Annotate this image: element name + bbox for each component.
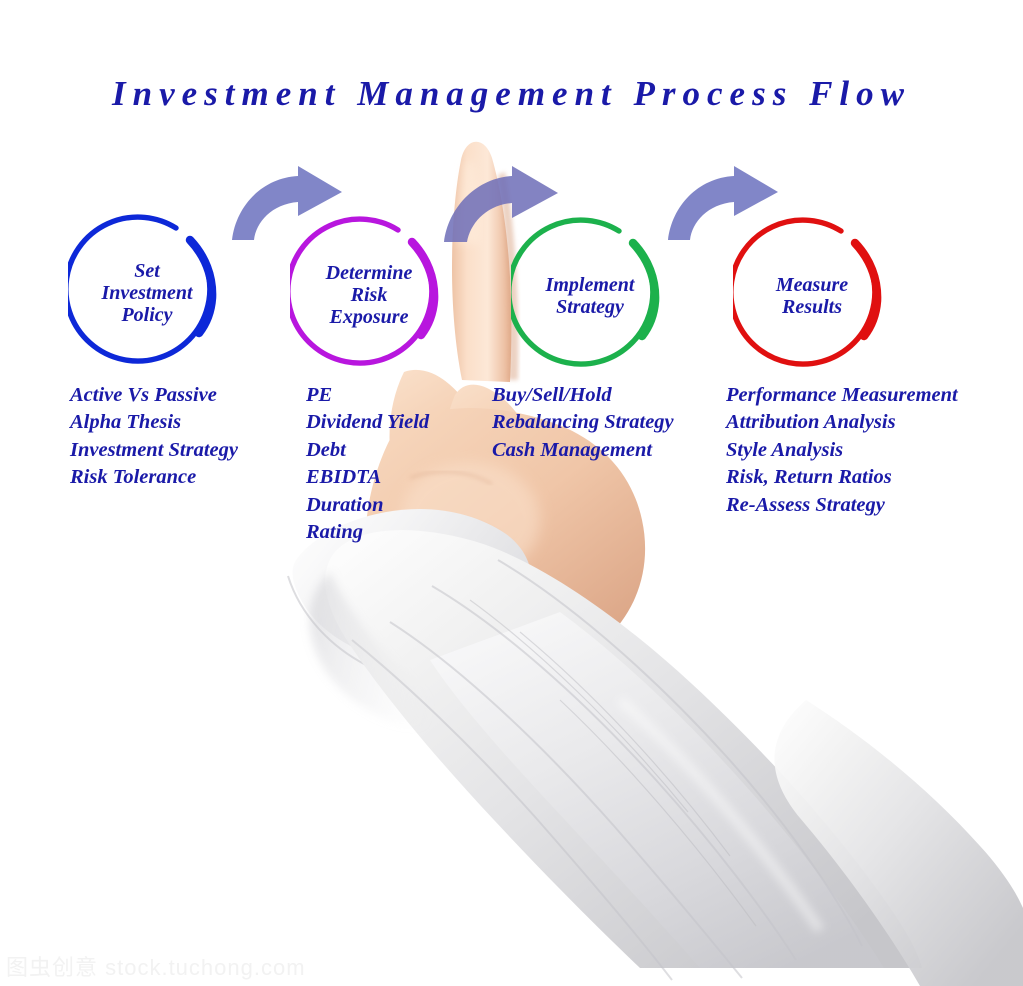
bullet-item: Investment Strategy (70, 437, 238, 464)
bullet-item: Alpha Thesis (70, 409, 238, 436)
bullet-item: Risk Tolerance (70, 464, 238, 491)
stage-node-set-investment-policy[interactable]: Set Investment Policy (68, 214, 226, 372)
bullet-item: Rebalancing Strategy (492, 409, 674, 436)
bullet-item: Buy/Sell/Hold (492, 382, 674, 409)
stage-bullets-determine-risk-exposure: PE Dividend Yield Debt EBIDTA Duration R… (306, 382, 429, 546)
bullet-item: Cash Management (492, 437, 674, 464)
bullet-item: Active Vs Passive (70, 382, 238, 409)
stage-bullets-set-investment-policy: Active Vs Passive Alpha Thesis Investmen… (70, 382, 238, 492)
bullet-item: Rating (306, 519, 429, 546)
stage-node-label: Measure Results (733, 274, 891, 318)
bullet-item: Duration (306, 492, 429, 519)
bullet-item: Dividend Yield (306, 409, 429, 436)
bullet-item: Debt (306, 437, 429, 464)
stage-node-determine-risk-exposure[interactable]: Determine Risk Exposure (290, 216, 448, 374)
bullet-item: Re-Assess Strategy (726, 492, 958, 519)
bullet-item: Performance Measurement (726, 382, 958, 409)
bullet-item: EBIDTA (306, 464, 429, 491)
page-title: Investment Management Process Flow (0, 74, 1023, 114)
stage-bullets-measure-results: Performance Measurement Attribution Anal… (726, 382, 958, 519)
stage-node-measure-results[interactable]: Measure Results (733, 217, 891, 375)
bullet-item: PE (306, 382, 429, 409)
stage-node-label: Set Investment Policy (68, 260, 226, 326)
bullet-item: Risk, Return Ratios (726, 464, 958, 491)
investment-process-flow-diagram: Investment Management Process Flow Set I… (0, 0, 1023, 986)
stage-bullets-implement-strategy: Buy/Sell/Hold Rebalancing Strategy Cash … (492, 382, 674, 464)
stage-node-label: Implement Strategy (511, 274, 669, 318)
stock-watermark: 图虫创意 stock.tuchong.com (6, 950, 306, 982)
bullet-item: Style Analysis (726, 437, 958, 464)
stage-node-implement-strategy[interactable]: Implement Strategy (511, 217, 669, 375)
bullet-item: Attribution Analysis (726, 409, 958, 436)
stage-node-label: Determine Risk Exposure (290, 262, 448, 328)
